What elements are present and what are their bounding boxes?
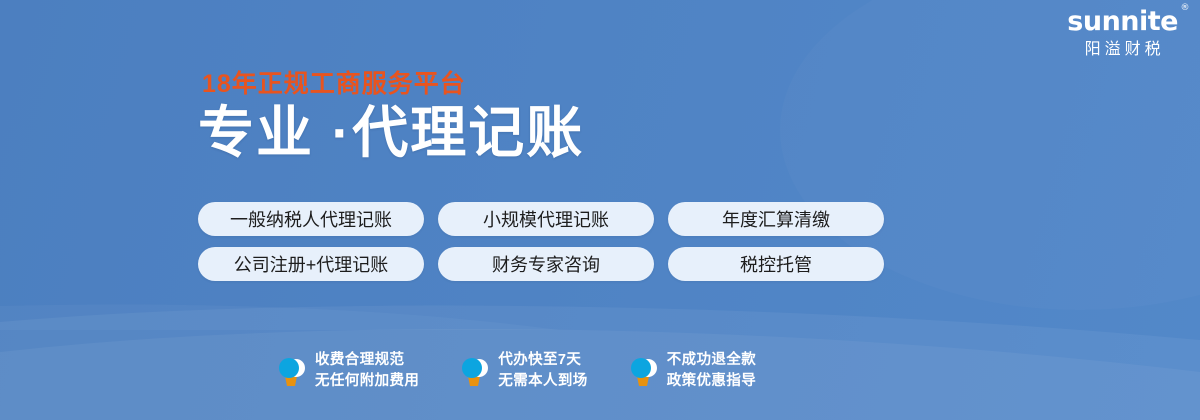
logo-wordmark: sunnite ® (1067, 8, 1178, 35)
service-pill-finance-consulting[interactable]: 财务专家咨询 (438, 247, 654, 281)
service-pill-tax-control-hosting[interactable]: 税控托管 (668, 247, 884, 281)
brand-logo: sunnite ® 阳溢财税 (1067, 8, 1178, 58)
feature-item-pricing: 收费合理规范 无任何附加费用 (276, 350, 419, 391)
service-pill-company-registration[interactable]: 公司注册+代理记账 (198, 247, 424, 281)
service-pill-row-2: 公司注册+代理记账 财务专家咨询 税控托管 (198, 247, 884, 281)
feature-line-2: 无需本人到场 (498, 371, 587, 392)
feature-line-1: 收费合理规范 (315, 352, 404, 368)
logo-wordmark-text: sunnite (1067, 6, 1178, 37)
feature-item-guarantee: 不成功退全款 政策优惠指导 (628, 350, 756, 391)
hero-eyebrow: 18年正规工商服务平台 (202, 72, 584, 97)
feature-line-2: 政策优惠指导 (667, 371, 756, 392)
circle-crescent-icon (276, 355, 306, 387)
feature-text-pricing: 收费合理规范 无任何附加费用 (315, 350, 419, 391)
hero-headline: 专业 ·代理记账 (198, 103, 584, 163)
feature-list: 收费合理规范 无任何附加费用 代办快至7天 无需本人到场 (276, 350, 756, 391)
service-pill-small-scale[interactable]: 小规模代理记账 (438, 202, 654, 236)
hero-text-block: 18年正规工商服务平台 专业 ·代理记账 (198, 72, 584, 163)
feature-item-speed: 代办快至7天 无需本人到场 (459, 350, 587, 391)
promo-banner: sunnite ® 阳溢财税 18年正规工商服务平台 专业 ·代理记账 一般纳税… (0, 0, 1200, 420)
service-pill-group: 一般纳税人代理记账 小规模代理记账 年度汇算清缴 公司注册+代理记账 财务专家咨… (198, 202, 884, 292)
feature-line-1: 代办快至7天 (498, 352, 581, 368)
registered-trademark-icon: ® (1181, 4, 1190, 13)
feature-text-guarantee: 不成功退全款 政策优惠指导 (667, 350, 756, 391)
logo-chinese-name: 阳溢财税 (1067, 42, 1178, 58)
service-pill-annual-settlement[interactable]: 年度汇算清缴 (668, 202, 884, 236)
circle-crescent-icon (459, 355, 489, 387)
circle-crescent-icon (628, 355, 658, 387)
service-pill-row-1: 一般纳税人代理记账 小规模代理记账 年度汇算清缴 (198, 202, 884, 236)
feature-text-speed: 代办快至7天 无需本人到场 (498, 350, 587, 391)
feature-line-1: 不成功退全款 (667, 352, 756, 368)
feature-line-2: 无任何附加费用 (315, 371, 419, 392)
service-pill-general-taxpayer[interactable]: 一般纳税人代理记账 (198, 202, 424, 236)
